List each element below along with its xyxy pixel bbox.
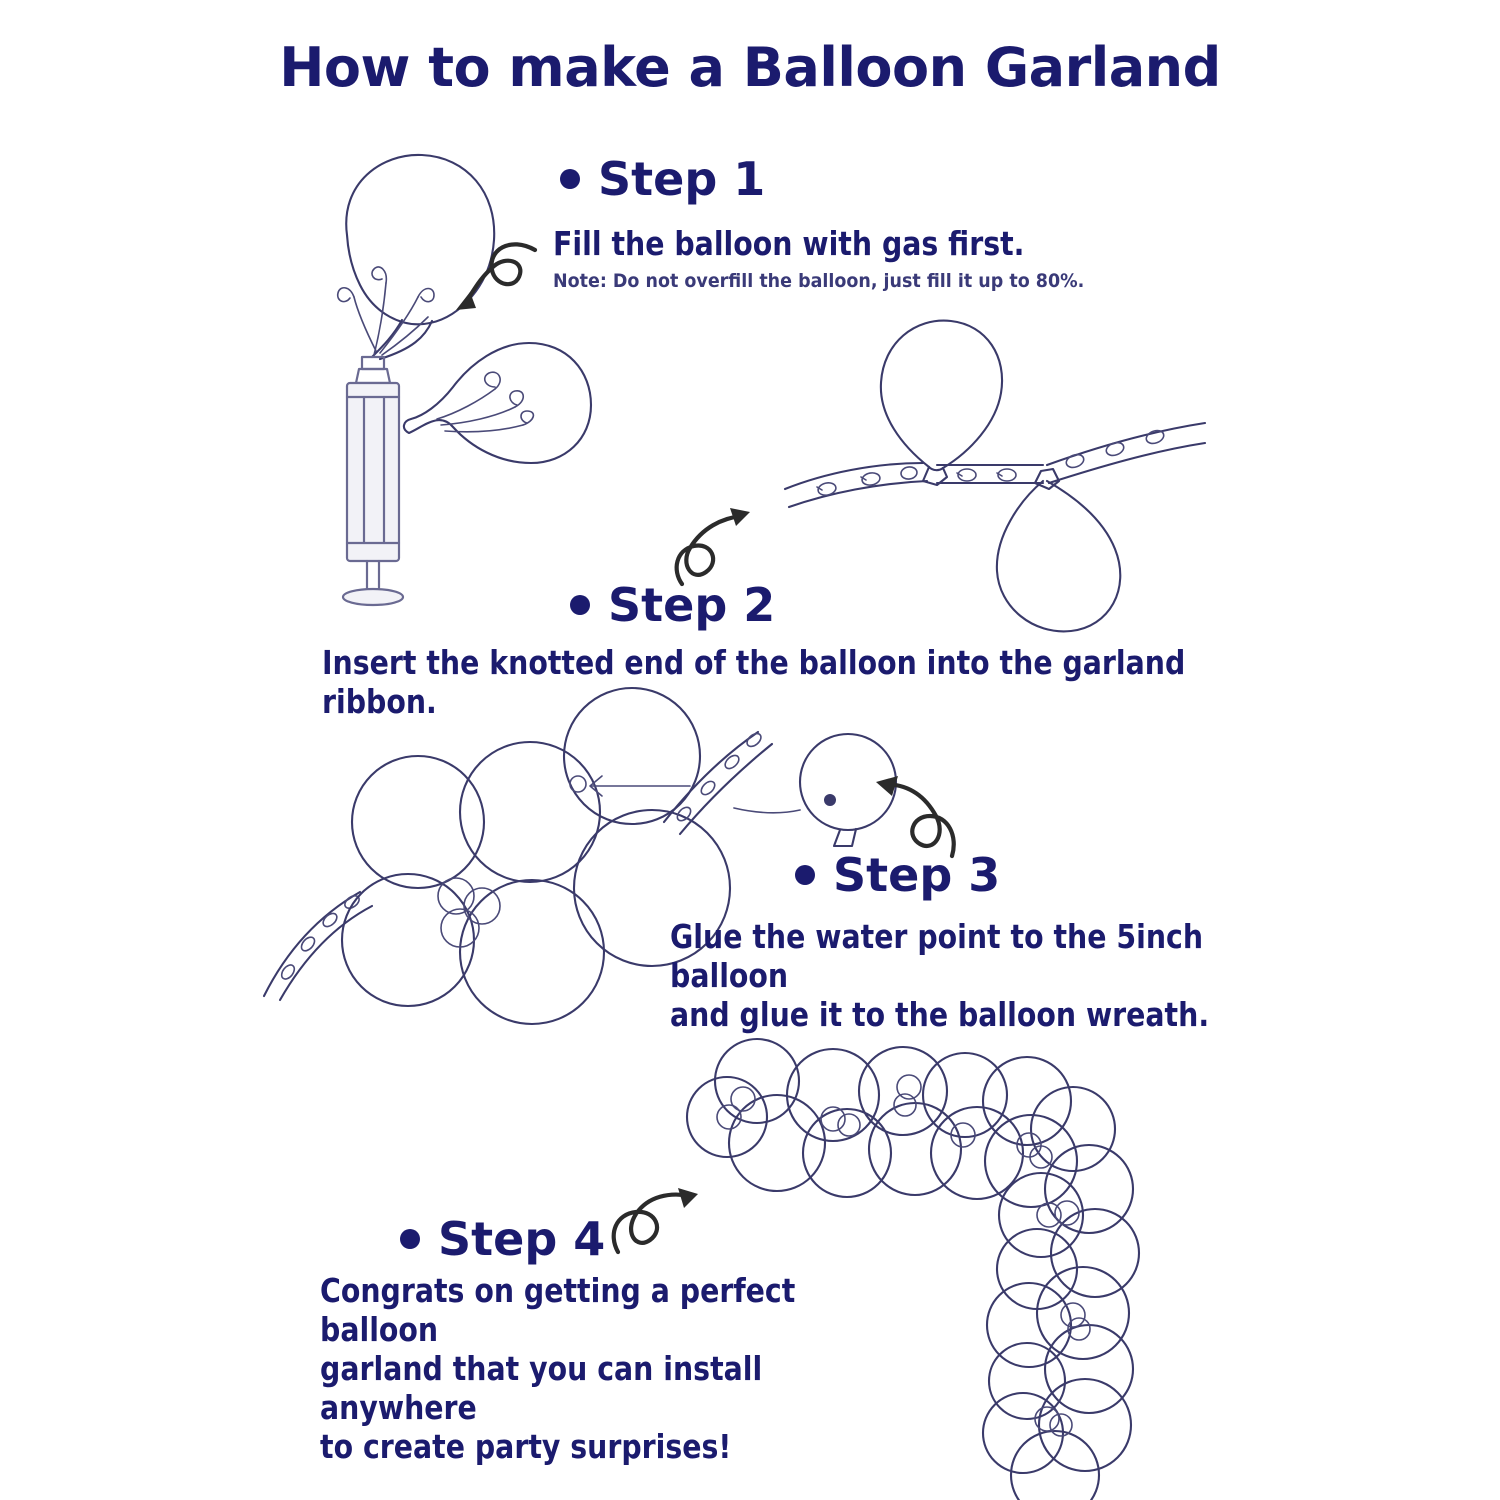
curly-arrow-down-left-icon <box>440 228 560 328</box>
step-1-label: Step 1 <box>598 152 765 206</box>
deflated-balloon-illustration <box>395 335 605 475</box>
bullet-icon <box>795 865 815 885</box>
curly-arrow-up-left-icon <box>858 768 968 868</box>
step-3-body: Glue the water point to the 5inch balloo… <box>670 918 1324 1035</box>
page-title: How to make a Balloon Garland <box>0 36 1500 99</box>
step-1-note: Note: Do not overfill the balloon, just … <box>553 270 1084 292</box>
bullet-icon <box>570 595 590 615</box>
step-4-heading: Step 4 <box>400 1212 605 1266</box>
step-1-body: Fill the balloon with gas first. <box>553 225 1086 264</box>
step-4-label: Step 4 <box>438 1212 605 1266</box>
balloons-on-ribbon-illustration <box>785 305 1205 655</box>
step-4-body: Congrats on getting a perfect balloon ga… <box>320 1272 922 1467</box>
curly-arrow-up-right-icon <box>608 1186 718 1286</box>
curly-arrow-up-right-icon <box>668 500 778 600</box>
instruction-poster: How to make a Balloon Garland Step 1 Fil… <box>0 0 1500 1500</box>
bullet-icon <box>400 1229 420 1249</box>
